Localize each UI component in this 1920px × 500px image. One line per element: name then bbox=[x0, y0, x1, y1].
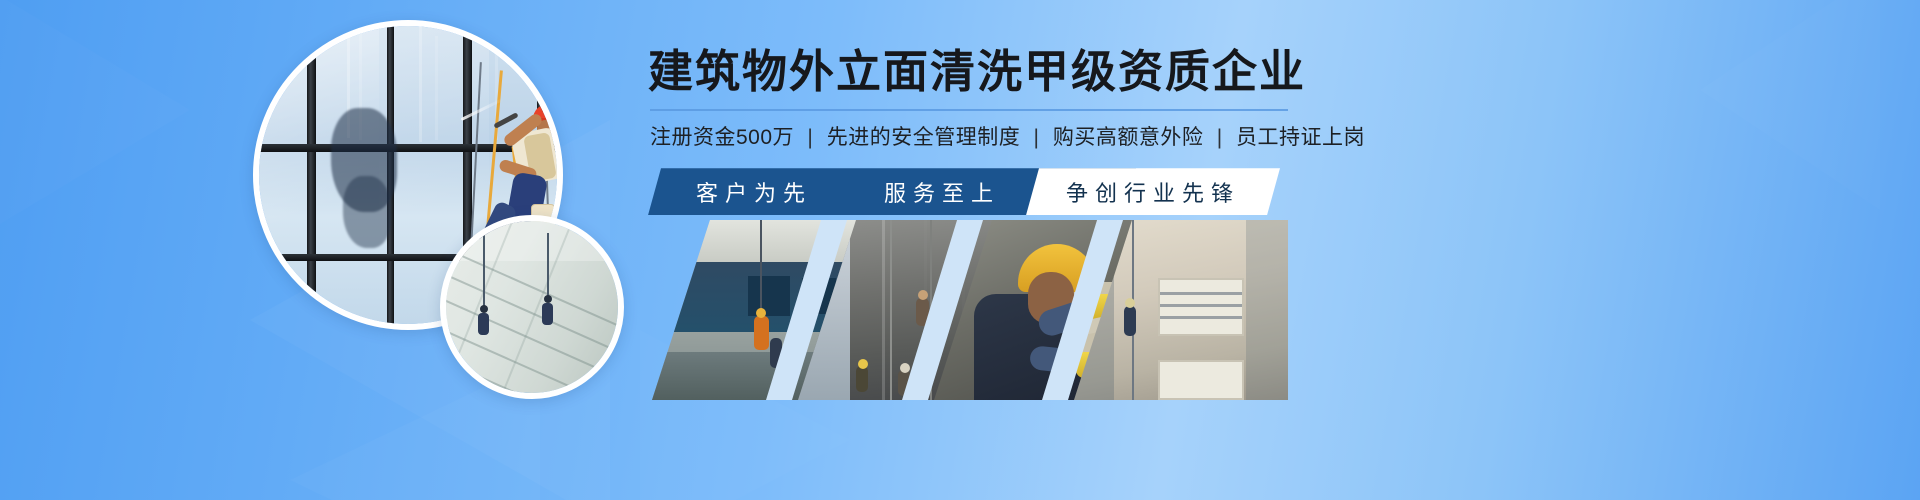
slogan-item-3: 争创行业先锋 bbox=[1066, 176, 1240, 208]
title-divider bbox=[650, 109, 1288, 111]
subtitle-separator: | bbox=[807, 126, 813, 149]
subtitle-item-4: 员工持证上岗 bbox=[1236, 126, 1365, 149]
subtitle-separator: | bbox=[1034, 126, 1040, 149]
subtitle-separator: | bbox=[1217, 126, 1223, 149]
photo-strip bbox=[652, 220, 1288, 400]
circle-photo-facade-workers bbox=[440, 215, 624, 399]
subtitle-item-2: 先进的安全管理制度 bbox=[827, 126, 1021, 149]
decor-triangle-icon bbox=[0, 0, 190, 260]
banner-content: 建筑物外立面清洗甲级资质企业 注册资金500万 | 先进的安全管理制度 | 购买… bbox=[648, 46, 1888, 215]
page-title: 建筑物外立面清洗甲级资质企业 bbox=[648, 46, 1888, 97]
promo-banner: 建筑物外立面清洗甲级资质企业 注册资金500万 | 先进的安全管理制度 | 购买… bbox=[0, 0, 1920, 500]
slogan-light-panel: 争创行业先锋 bbox=[1026, 168, 1280, 215]
banner-subtitle: 注册资金500万 | 先进的安全管理制度 | 购买高额意外险 | 员工持证上岗 bbox=[650, 121, 1888, 151]
slogan-bar: 客户为先 服务至上 争创行业先锋 bbox=[648, 168, 1280, 215]
slogan-item-2: 服务至上 bbox=[884, 176, 1000, 208]
subtitle-item-1: 注册资金500万 bbox=[650, 126, 794, 149]
slogan-item-1: 客户为先 bbox=[696, 176, 812, 208]
subtitle-item-3: 购买高额意外险 bbox=[1053, 126, 1204, 149]
